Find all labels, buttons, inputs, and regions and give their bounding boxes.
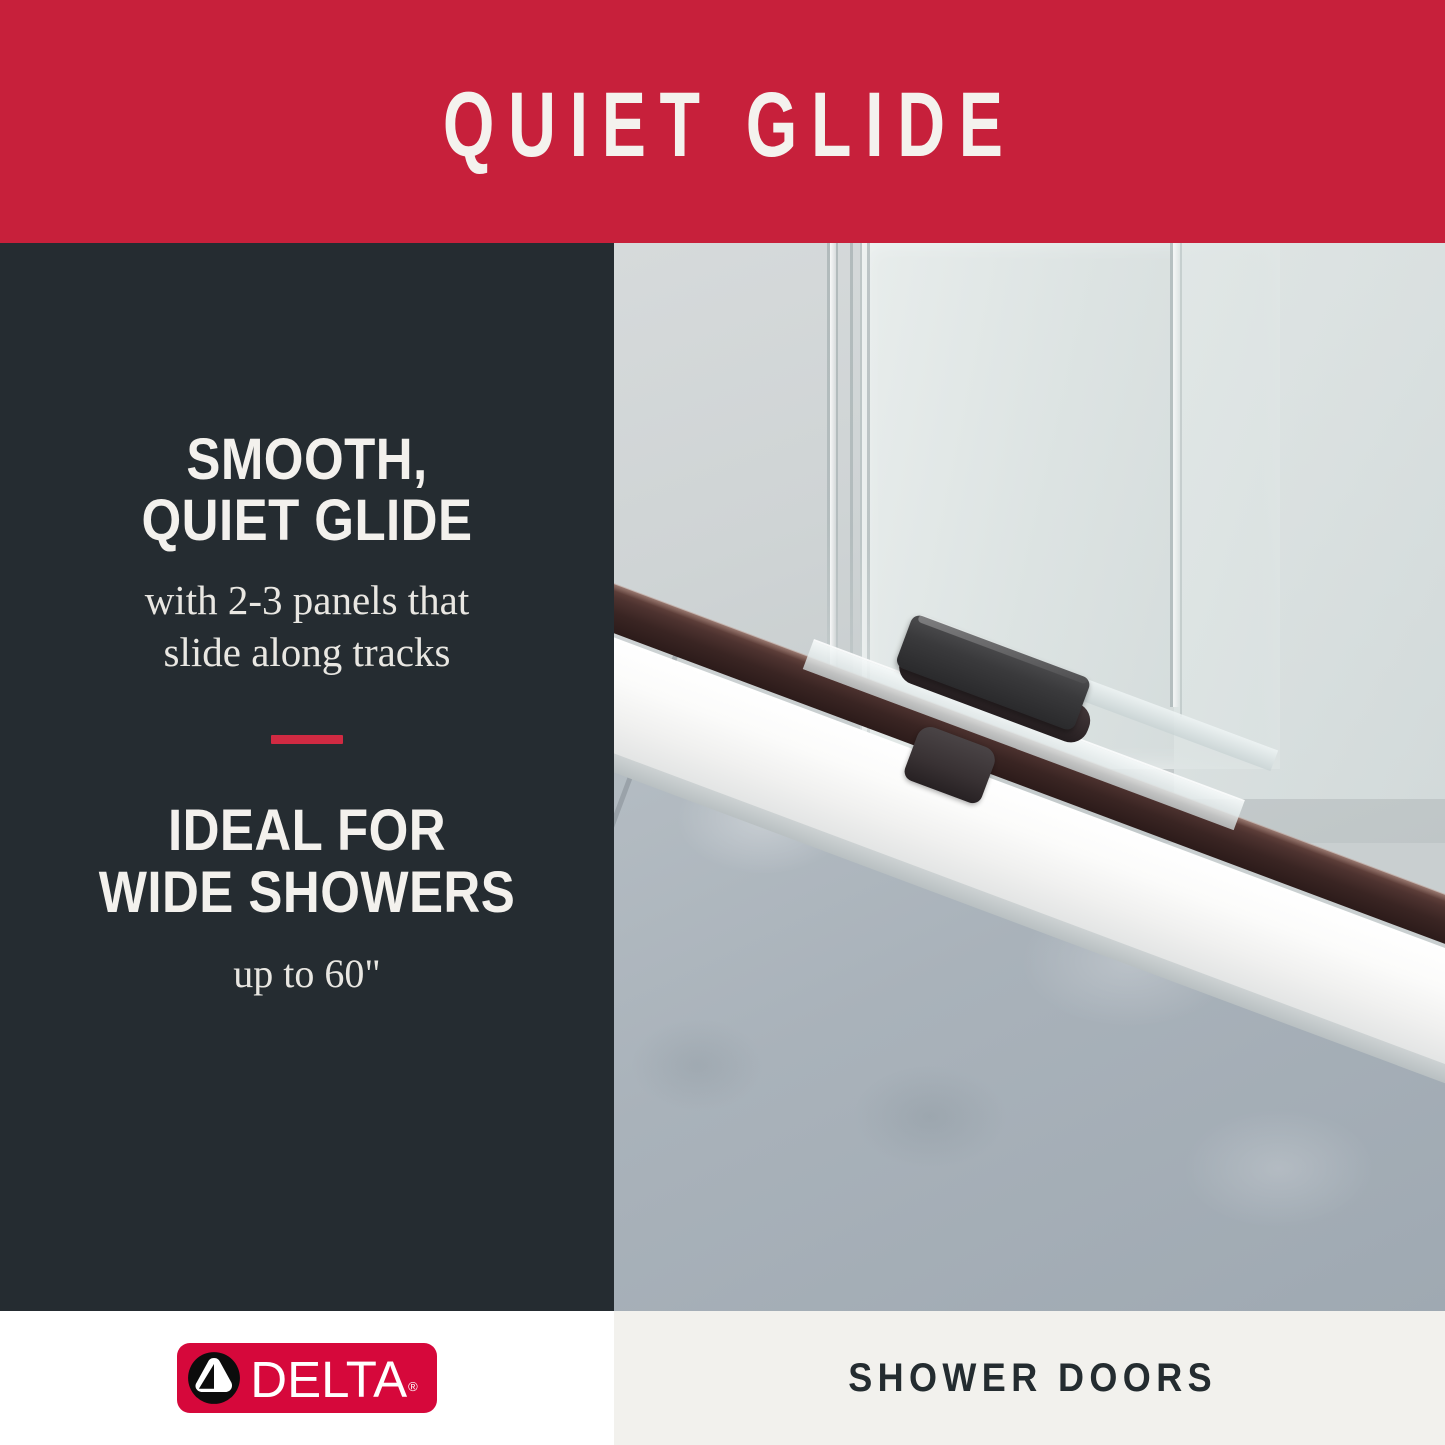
- footer-brand-area: DELTA®: [0, 1311, 614, 1445]
- delta-wordmark: DELTA®: [250, 1354, 416, 1405]
- glass-panel-secondary: [1174, 243, 1445, 799]
- feature-subtext-smooth-glide: with 2-3 panels that slide along tracks: [0, 574, 614, 678]
- body-split: SMOOTH, QUIET GLIDE with 2-3 panels that…: [0, 243, 1445, 1311]
- registered-trademark-icon: ®: [408, 1379, 418, 1394]
- footer-category-label: SHOWER DOORS: [842, 1356, 1216, 1401]
- info-panel: SMOOTH, QUIET GLIDE with 2-3 panels that…: [0, 243, 614, 1311]
- glass-seam-right: [1180, 243, 1182, 717]
- glass-edge-highlight: [830, 243, 836, 707]
- delta-logo[interactable]: DELTA®: [177, 1343, 436, 1413]
- feature-block-smooth-glide: SMOOTH, QUIET GLIDE with 2-3 panels that…: [0, 429, 614, 678]
- footer-category-area: SHOWER DOORS: [614, 1311, 1445, 1445]
- page-title: QUIET GLIDE: [429, 79, 1016, 171]
- feature-subtext-wide-showers: up to 60": [0, 949, 614, 1000]
- info-panel-content: SMOOTH, QUIET GLIDE with 2-3 panels that…: [0, 243, 614, 1311]
- feature-heading-smooth-glide: SMOOTH, QUIET GLIDE: [37, 429, 577, 552]
- feature-heading-wide-showers: IDEAL FOR WIDE SHOWERS: [37, 800, 577, 923]
- feature-block-wide-showers: IDEAL FOR WIDE SHOWERS up to 60": [0, 800, 614, 1000]
- marketing-poster: QUIET GLIDE SMOOTH, QUIET GLIDE with 2-3…: [0, 0, 1445, 1445]
- header-banner: QUIET GLIDE: [0, 0, 1445, 243]
- delta-triangle-icon: [187, 1351, 241, 1405]
- glass-seam-right-highlight: [1173, 243, 1179, 707]
- product-photo: [614, 243, 1445, 1311]
- section-divider: [271, 735, 343, 744]
- footer: DELTA® SHOWER DOORS: [0, 1311, 1445, 1445]
